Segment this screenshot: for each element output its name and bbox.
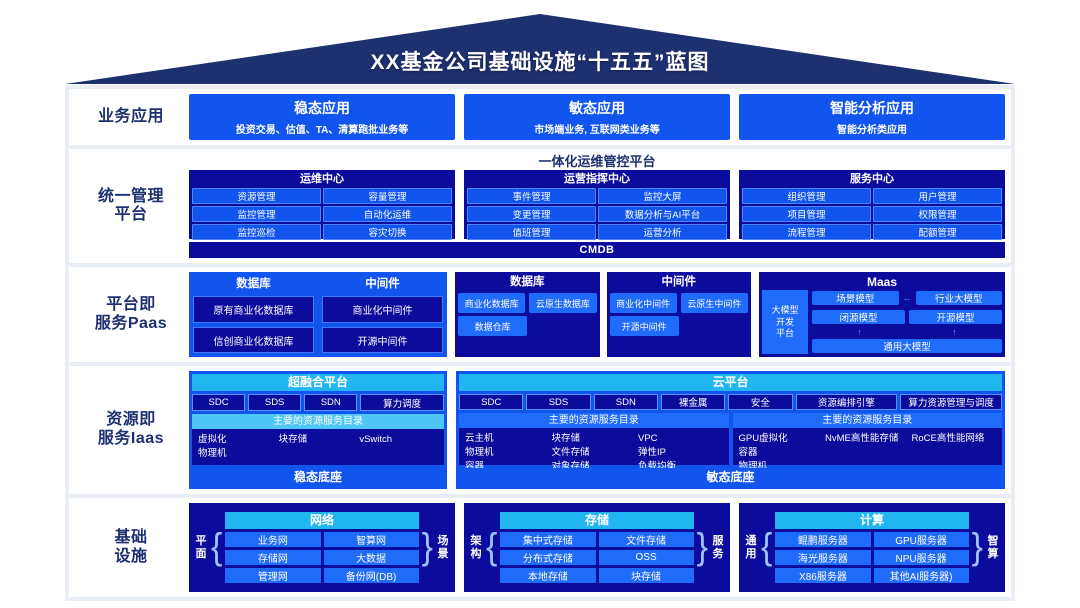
catalog-item: 容器 bbox=[739, 446, 824, 460]
catalog-item: 物理机 bbox=[198, 447, 277, 461]
catalog-item: vSwitch bbox=[359, 433, 438, 447]
center-cell[interactable]: 运营分析 bbox=[598, 224, 727, 240]
maas-dev-line3: 平台 bbox=[776, 328, 794, 339]
application-card-list: 稳态应用 投资交易、估值、TA、清算跑批业务等 敏态应用 市场端业务, 互联网类… bbox=[189, 94, 1005, 140]
catalog-item: 弹性IP bbox=[638, 446, 723, 460]
cmdb-bar[interactable]: CMDB bbox=[189, 242, 1005, 259]
platform-pill[interactable]: SDC bbox=[192, 394, 245, 411]
chip-row: 商业化数据库 云原生数据库 bbox=[458, 293, 597, 313]
paas-database-box: 数据库 商业化数据库 云原生数据库 数据仓库 bbox=[455, 272, 600, 357]
group-cell[interactable]: X86服务器 bbox=[775, 568, 870, 583]
group-cell[interactable]: 智算网 bbox=[324, 532, 419, 547]
chip-row: 开源中间件 bbox=[610, 316, 749, 336]
platform-pill[interactable]: SDN bbox=[594, 394, 658, 410]
up-arrow-icon: ↑ bbox=[812, 328, 907, 336]
row-infrastructure: 基础 设施 平 面 { 网络 bbox=[69, 498, 1011, 597]
group-cell[interactable]: OSS bbox=[599, 550, 694, 565]
group-left-label-line2: 面 bbox=[194, 548, 208, 560]
diagram-body: 业务应用 稳态应用 投资交易、估值、TA、清算跑批业务等 敏态应用 市场端业务,… bbox=[65, 85, 1015, 601]
group-header: 计算 bbox=[775, 512, 968, 529]
group-core: 网络 业务网 智算网 存储网 大数据 管理网 备份网(DB) bbox=[225, 512, 418, 583]
group-cell-grid: 集中式存储 文件存储 分布式存储 OSS 本地存储 块存储 bbox=[500, 532, 693, 583]
maas-model-stack: 场景模型 ← 行业大模型 闭源模型 开源模型 ↑ bbox=[812, 290, 1002, 354]
center-title: 服务中心 bbox=[741, 172, 1003, 186]
row-label-paas: 平台即 服务Paas bbox=[73, 272, 189, 357]
resource-service-catalog: 主要的资源服务目录 虚拟化 物理机 块存储 bbox=[192, 414, 444, 465]
group-cell[interactable]: NPU服务器 bbox=[874, 550, 969, 565]
management-center-list: 运维中心 资源管理 容量管理 监控管理 自动化运维 监控巡检 容灾切换 运营指挥… bbox=[189, 170, 1005, 238]
unified-platform-heading: 一体化运维管控平台 bbox=[189, 154, 1005, 170]
group-cell[interactable]: 大数据 bbox=[324, 550, 419, 565]
group-right-label-line2: 算 bbox=[986, 548, 1000, 560]
group-cell[interactable]: 业务网 bbox=[225, 532, 320, 547]
catalog-item: VPC bbox=[638, 432, 723, 446]
center-cell-grid: 事件管理 监控大屏 变更管理 数据分析与AI平台 值班管理 运营分析 bbox=[466, 188, 728, 241]
infrastructure-group-network: 平 面 { 网络 业务网 智算网 存储网 大数据 管理网 bbox=[189, 503, 455, 592]
center-cell[interactable]: 监控管理 bbox=[192, 206, 321, 222]
center-cell[interactable]: 容量管理 bbox=[323, 188, 452, 204]
application-card-subtitle: 投资交易、估值、TA、清算跑批业务等 bbox=[236, 121, 409, 136]
catalog-item: 块存储 bbox=[279, 433, 358, 447]
brace-left-icon: { bbox=[211, 503, 222, 592]
paas-middleware-box: 中间件 商业化中间件 云原生中间件 开源中间件 bbox=[607, 272, 752, 357]
platform-pill[interactable]: 裸金属 bbox=[661, 394, 725, 410]
group-item[interactable]: 商业化中间件 bbox=[322, 296, 443, 322]
group-cell-grid: 鲲鹏服务器 GPU服务器 海光服务器 NPU服务器 X86服务器 其他AI服务器… bbox=[775, 532, 968, 583]
center-cell-grid: 组织管理 用户管理 项目管理 权限管理 流程管理 配额管理 bbox=[741, 188, 1003, 241]
maas-pill-closed-source[interactable]: 闭源模型 bbox=[812, 310, 905, 324]
infrastructure-group-compute: 通 用 { 计算 鲲鹏服务器 GPU服务器 海光服务器 NPU服务器 X86服 bbox=[739, 503, 1005, 592]
paas-cloudnative-panel: 数据库 商业化数据库 云原生数据库 数据仓库 中间件 bbox=[455, 272, 751, 357]
infrastructure-group-storage: 架 构 { 存储 集中式存储 文件存储 分布式存储 OSS 本地存储 bbox=[464, 503, 730, 592]
maas-pill-open-source[interactable]: 开源模型 bbox=[909, 310, 1002, 324]
group-right-label-line1: 智 bbox=[986, 535, 1000, 547]
brace-left-icon: { bbox=[761, 503, 772, 592]
roof-shape: XX基金公司基础设施“十五五”蓝图 bbox=[65, 14, 1015, 84]
maas-title: Maas bbox=[762, 275, 1002, 290]
platform-pill[interactable]: SDS bbox=[248, 394, 301, 411]
center-cell[interactable]: 变更管理 bbox=[467, 206, 596, 222]
application-card-title: 智能分析应用 bbox=[830, 98, 914, 118]
platform-pill-row: SDC SDS SDN 裸金属 安全 资源编排引擎 算力资源管理与调度 bbox=[459, 394, 1002, 410]
group-left-label-line2: 用 bbox=[744, 548, 758, 560]
center-cell-grid: 资源管理 容量管理 监控管理 自动化运维 监控巡检 容灾切换 bbox=[191, 188, 453, 241]
group-cell[interactable]: 海光服务器 bbox=[775, 550, 870, 565]
group-right-label: 场 景 bbox=[436, 535, 450, 560]
catalog-wrapper: 主要的资源服务目录 虚拟化 物理机 块存储 bbox=[192, 414, 444, 465]
group-left-label-line1: 平 bbox=[194, 535, 208, 547]
platform-pill[interactable]: 算力资源管理与调度 bbox=[900, 394, 1002, 410]
chip[interactable]: 云原生数据库 bbox=[529, 293, 596, 313]
chip[interactable]: 开源中间件 bbox=[610, 316, 679, 336]
group-left-label-line1: 架 bbox=[469, 535, 483, 547]
center-cell[interactable]: 项目管理 bbox=[742, 206, 871, 222]
resource-service-catalog-left: 主要的资源服务目录 云主机 物理机 容器 块存储 文 bbox=[459, 413, 729, 465]
catalog-item: RoCE高性能网络 bbox=[912, 432, 997, 446]
group-cell[interactable]: 备份网(DB) bbox=[324, 568, 419, 583]
group-cell[interactable]: GPU服务器 bbox=[874, 532, 969, 547]
application-card[interactable]: 敏态应用 市场端业务, 互联网类业务等 bbox=[464, 94, 730, 140]
maas-model-row-general: 通用大模型 bbox=[812, 339, 1002, 355]
resource-service-catalog-right: 主要的资源服务目录 GPU虚拟化 容器 物理机 NvME高性能存储 bbox=[733, 413, 1003, 465]
catalog-column: vSwitch bbox=[359, 433, 438, 461]
group-cell[interactable]: 本地存储 bbox=[500, 568, 595, 583]
center-cell[interactable]: 配额管理 bbox=[873, 224, 1002, 240]
maas-body: 大模型 开发 平台 场景模型 ← 行业大模型 bbox=[762, 290, 1002, 354]
hyperconverged-platform: 超融合平台 SDC SDS SDN 算力调度 主要的资源服务目录 bbox=[189, 371, 447, 489]
center-cell[interactable]: 流程管理 bbox=[742, 224, 871, 240]
catalog-items: 虚拟化 物理机 块存储 vSwitch bbox=[192, 429, 444, 465]
maas-pill-general-model[interactable]: 通用大模型 bbox=[812, 339, 1002, 353]
catalog-header: 主要的资源服务目录 bbox=[192, 414, 444, 429]
group-left-label: 通 用 bbox=[744, 535, 758, 560]
row-infrastructure-as-a-service: 资源即 服务Iaas 超融合平台 SDC SDS SDN 算力调度 bbox=[69, 366, 1011, 494]
group-right-label-line2: 务 bbox=[711, 548, 725, 560]
application-card[interactable]: 稳态应用 投资交易、估值、TA、清算跑批业务等 bbox=[189, 94, 455, 140]
left-arrow-icon: ← bbox=[903, 293, 912, 303]
center-cell[interactable]: 事件管理 bbox=[467, 188, 596, 204]
group-item[interactable]: 信创商业化数据库 bbox=[193, 327, 314, 353]
group-right-label-line1: 场 bbox=[436, 535, 450, 547]
group-left-label-line2: 构 bbox=[469, 548, 483, 560]
row-label-unified-management-platform: 统一管理 平台 bbox=[73, 154, 189, 258]
group-title: 数据库 bbox=[193, 276, 314, 292]
row-platform-as-a-service: 平台即 服务Paas 数据库 原有商业化数据库 信创商业化数据库 中间件 bbox=[69, 267, 1011, 362]
group-right-label: 服 务 bbox=[711, 535, 725, 560]
platform-footer-stable-base: 稳态底座 bbox=[192, 468, 444, 486]
platform-pill[interactable]: SDS bbox=[526, 394, 590, 410]
row-body-paas: 数据库 原有商业化数据库 信创商业化数据库 中间件 商业化中间件 开源中间件 bbox=[189, 272, 1005, 357]
row-body-iaas: 超融合平台 SDC SDS SDN 算力调度 主要的资源服务目录 bbox=[189, 371, 1005, 489]
group-title: 数据库 bbox=[458, 275, 597, 290]
platform-footer-agile-base: 敏态底座 bbox=[459, 468, 1002, 486]
group-cell-grid: 业务网 智算网 存储网 大数据 管理网 备份网(DB) bbox=[225, 532, 418, 583]
group-title: 中间件 bbox=[322, 276, 443, 292]
platform-pill[interactable]: SDC bbox=[459, 394, 523, 410]
row-label-line1: 基础 bbox=[114, 529, 147, 548]
brace-right-icon: } bbox=[972, 503, 983, 592]
platform-pill[interactable]: SDN bbox=[304, 394, 357, 411]
center-title: 运营指挥中心 bbox=[466, 172, 728, 186]
iaas-platform-list: 超融合平台 SDC SDS SDN 算力调度 主要的资源服务目录 bbox=[189, 371, 1005, 489]
maas-dev-line1: 大模型 bbox=[771, 305, 798, 316]
center-cell[interactable]: 资源管理 bbox=[192, 188, 321, 204]
infrastructure-group-list: 平 面 { 网络 业务网 智算网 存储网 大数据 管理网 bbox=[189, 503, 1005, 592]
paas-maas-panel: Maas 大模型 开发 平台 场景模型 ← 行 bbox=[759, 272, 1005, 357]
row-label-business-applications: 业务应用 bbox=[73, 94, 189, 140]
application-card-subtitle: 智能分析类应用 bbox=[837, 121, 907, 136]
group-right-label-line2: 景 bbox=[436, 548, 450, 560]
platform-pill[interactable]: 算力调度 bbox=[360, 394, 444, 411]
maas-model-row-source: 闭源模型 开源模型 bbox=[812, 309, 1002, 325]
maas-pill-industry-model[interactable]: 行业大模型 bbox=[916, 291, 1003, 305]
row-unified-management-platform: 统一管理 平台 一体化运维管控平台 运维中心 资源管理 容量管理 监控管理 自动… bbox=[69, 149, 1011, 263]
center-cell[interactable]: 监控大屏 bbox=[598, 188, 727, 204]
catalog-item: 块存储 bbox=[552, 432, 637, 446]
chip[interactable]: 商业化数据库 bbox=[458, 293, 525, 313]
blueprint-page: XX基金公司基础设施“十五五”蓝图 业务应用 稳态应用 投资交易、估值、TA、清… bbox=[0, 0, 1080, 608]
paas-legacy-panel: 数据库 原有商业化数据库 信创商业化数据库 中间件 商业化中间件 开源中间件 bbox=[189, 272, 447, 357]
chip-row: 商业化中间件 云原生中间件 bbox=[610, 293, 749, 313]
row-label-iaas: 资源即 服务Iaas bbox=[73, 371, 189, 489]
center-cell[interactable]: 数据分析与AI平台 bbox=[598, 206, 727, 222]
up-arrow-icon: ↑ bbox=[907, 328, 1002, 336]
group-left-label-line1: 通 bbox=[744, 535, 758, 547]
platform-header: 云平台 bbox=[459, 374, 1002, 391]
platform-pill[interactable]: 安全 bbox=[728, 394, 792, 410]
row-label-line2: 服务Paas bbox=[95, 315, 167, 334]
maas-dev-platform[interactable]: 大模型 开发 平台 bbox=[762, 290, 808, 354]
group-left-label: 架 构 bbox=[469, 535, 483, 560]
application-card-subtitle: 市场端业务, 互联网类业务等 bbox=[534, 121, 660, 136]
center-cell[interactable]: 组织管理 bbox=[742, 188, 871, 204]
paas-legacy-middleware-group: 中间件 商业化中间件 开源中间件 bbox=[322, 276, 443, 353]
maas-model-row-scenario: 场景模型 ← 行业大模型 bbox=[812, 290, 1002, 306]
center-cell[interactable]: 自动化运维 bbox=[323, 206, 452, 222]
row-body-infrastructure: 平 面 { 网络 业务网 智算网 存储网 大数据 管理网 bbox=[189, 503, 1005, 592]
chip-row: 数据仓库 bbox=[458, 316, 597, 336]
group-right-label-line1: 服 bbox=[711, 535, 725, 547]
center-title: 运维中心 bbox=[191, 172, 453, 186]
management-center-operation-command[interactable]: 运营指挥中心 事件管理 监控大屏 变更管理 数据分析与AI平台 值班管理 运营分… bbox=[464, 170, 730, 238]
group-cell[interactable]: 管理网 bbox=[225, 568, 320, 583]
row-label-line1: 资源即 bbox=[98, 411, 164, 430]
brace-right-icon: } bbox=[697, 503, 708, 592]
chip[interactable]: 数据仓库 bbox=[458, 316, 527, 336]
catalog-item: NvME高性能存储 bbox=[825, 432, 910, 446]
application-card-title: 敏态应用 bbox=[569, 98, 625, 118]
group-core: 存储 集中式存储 文件存储 分布式存储 OSS 本地存储 块存储 bbox=[500, 512, 693, 583]
group-right-label: 智 算 bbox=[986, 535, 1000, 560]
center-cell[interactable]: 容灾切换 bbox=[323, 224, 452, 240]
group-cell[interactable]: 集中式存储 bbox=[500, 532, 595, 547]
maas-dev-line2: 开发 bbox=[776, 317, 794, 328]
management-center-service[interactable]: 服务中心 组织管理 用户管理 项目管理 权限管理 流程管理 配额管理 bbox=[739, 170, 1005, 238]
catalog-item: 云主机 bbox=[465, 432, 550, 446]
center-cell[interactable]: 权限管理 bbox=[873, 206, 1002, 222]
chip[interactable]: 云原生中间件 bbox=[681, 293, 748, 313]
row-label-line1: 统一管理 bbox=[98, 188, 164, 207]
paas-panel-list: 数据库 原有商业化数据库 信创商业化数据库 中间件 商业化中间件 开源中间件 bbox=[189, 272, 1005, 357]
group-header: 网络 bbox=[225, 512, 418, 529]
group-item[interactable]: 开源中间件 bbox=[322, 327, 443, 353]
group-cell[interactable]: 块存储 bbox=[599, 568, 694, 583]
catalog-column: 块存储 bbox=[279, 433, 358, 461]
group-cell[interactable]: 存储网 bbox=[225, 550, 320, 565]
row-label-line2: 设施 bbox=[114, 548, 147, 567]
platform-header: 超融合平台 bbox=[192, 374, 444, 391]
row-body-business-applications: 稳态应用 投资交易、估值、TA、清算跑批业务等 敏态应用 市场端业务, 互联网类… bbox=[189, 94, 1005, 140]
page-title: XX基金公司基础设施“十五五”蓝图 bbox=[65, 46, 1015, 76]
center-cell[interactable]: 值班管理 bbox=[467, 224, 596, 240]
center-cell[interactable]: 监控巡检 bbox=[192, 224, 321, 240]
center-cell[interactable]: 用户管理 bbox=[873, 188, 1002, 204]
maas-arrow-row: ↑ ↑ bbox=[812, 328, 1002, 336]
row-label-line2: 服务Iaas bbox=[98, 430, 164, 449]
cloud-platform: 云平台 SDC SDS SDN 裸金属 安全 资源编排引擎 算力资源管理与调度 bbox=[456, 371, 1005, 489]
catalog-item: 物理机 bbox=[465, 446, 550, 460]
management-center-ops[interactable]: 运维中心 资源管理 容量管理 监控管理 自动化运维 监控巡检 容灾切换 bbox=[189, 170, 455, 238]
group-left-label: 平 面 bbox=[194, 535, 208, 560]
group-item[interactable]: 原有商业化数据库 bbox=[193, 296, 314, 322]
row-body-unified-management-platform: 一体化运维管控平台 运维中心 资源管理 容量管理 监控管理 自动化运维 监控巡检… bbox=[189, 154, 1005, 258]
group-cell[interactable]: 其他AI服务器) bbox=[874, 568, 969, 583]
catalog-header: 主要的资源服务目录 bbox=[733, 413, 1003, 428]
platform-pill-row: SDC SDS SDN 算力调度 bbox=[192, 394, 444, 411]
group-cell[interactable]: 文件存储 bbox=[599, 532, 694, 547]
catalog-column: 虚拟化 物理机 bbox=[198, 433, 277, 461]
group-title: 中间件 bbox=[610, 275, 749, 290]
catalog-item: 文件存储 bbox=[552, 446, 637, 460]
catalog-wrapper: 主要的资源服务目录 云主机 物理机 容器 块存储 文 bbox=[459, 413, 1002, 465]
row-business-applications: 业务应用 稳态应用 投资交易、估值、TA、清算跑批业务等 敏态应用 市场端业务,… bbox=[69, 89, 1011, 145]
group-cell[interactable]: 分布式存储 bbox=[500, 550, 595, 565]
row-label-infrastructure: 基础 设施 bbox=[73, 503, 189, 592]
brace-right-icon: } bbox=[422, 503, 433, 592]
catalog-header: 主要的资源服务目录 bbox=[459, 413, 729, 428]
application-card[interactable]: 智能分析应用 智能分析类应用 bbox=[739, 94, 1005, 140]
catalog-item: GPU虚拟化 bbox=[739, 432, 824, 446]
brace-left-icon: { bbox=[486, 503, 497, 592]
row-label-line1: 平台即 bbox=[95, 296, 167, 315]
row-label-line2: 平台 bbox=[98, 206, 164, 225]
title-banner: XX基金公司基础设施“十五五”蓝图 bbox=[0, 0, 1080, 84]
paas-legacy-database-group: 数据库 原有商业化数据库 信创商业化数据库 bbox=[193, 276, 314, 353]
application-card-title: 稳态应用 bbox=[294, 98, 350, 118]
group-header: 存储 bbox=[500, 512, 693, 529]
platform-pill[interactable]: 资源编排引擎 bbox=[796, 394, 898, 410]
catalog-item: 虚拟化 bbox=[198, 433, 277, 447]
group-core: 计算 鲲鹏服务器 GPU服务器 海光服务器 NPU服务器 X86服务器 其他AI… bbox=[775, 512, 968, 583]
maas-pill-scenario-model[interactable]: 场景模型 bbox=[812, 291, 899, 305]
group-cell[interactable]: 鲲鹏服务器 bbox=[775, 532, 870, 547]
chip[interactable]: 商业化中间件 bbox=[610, 293, 677, 313]
